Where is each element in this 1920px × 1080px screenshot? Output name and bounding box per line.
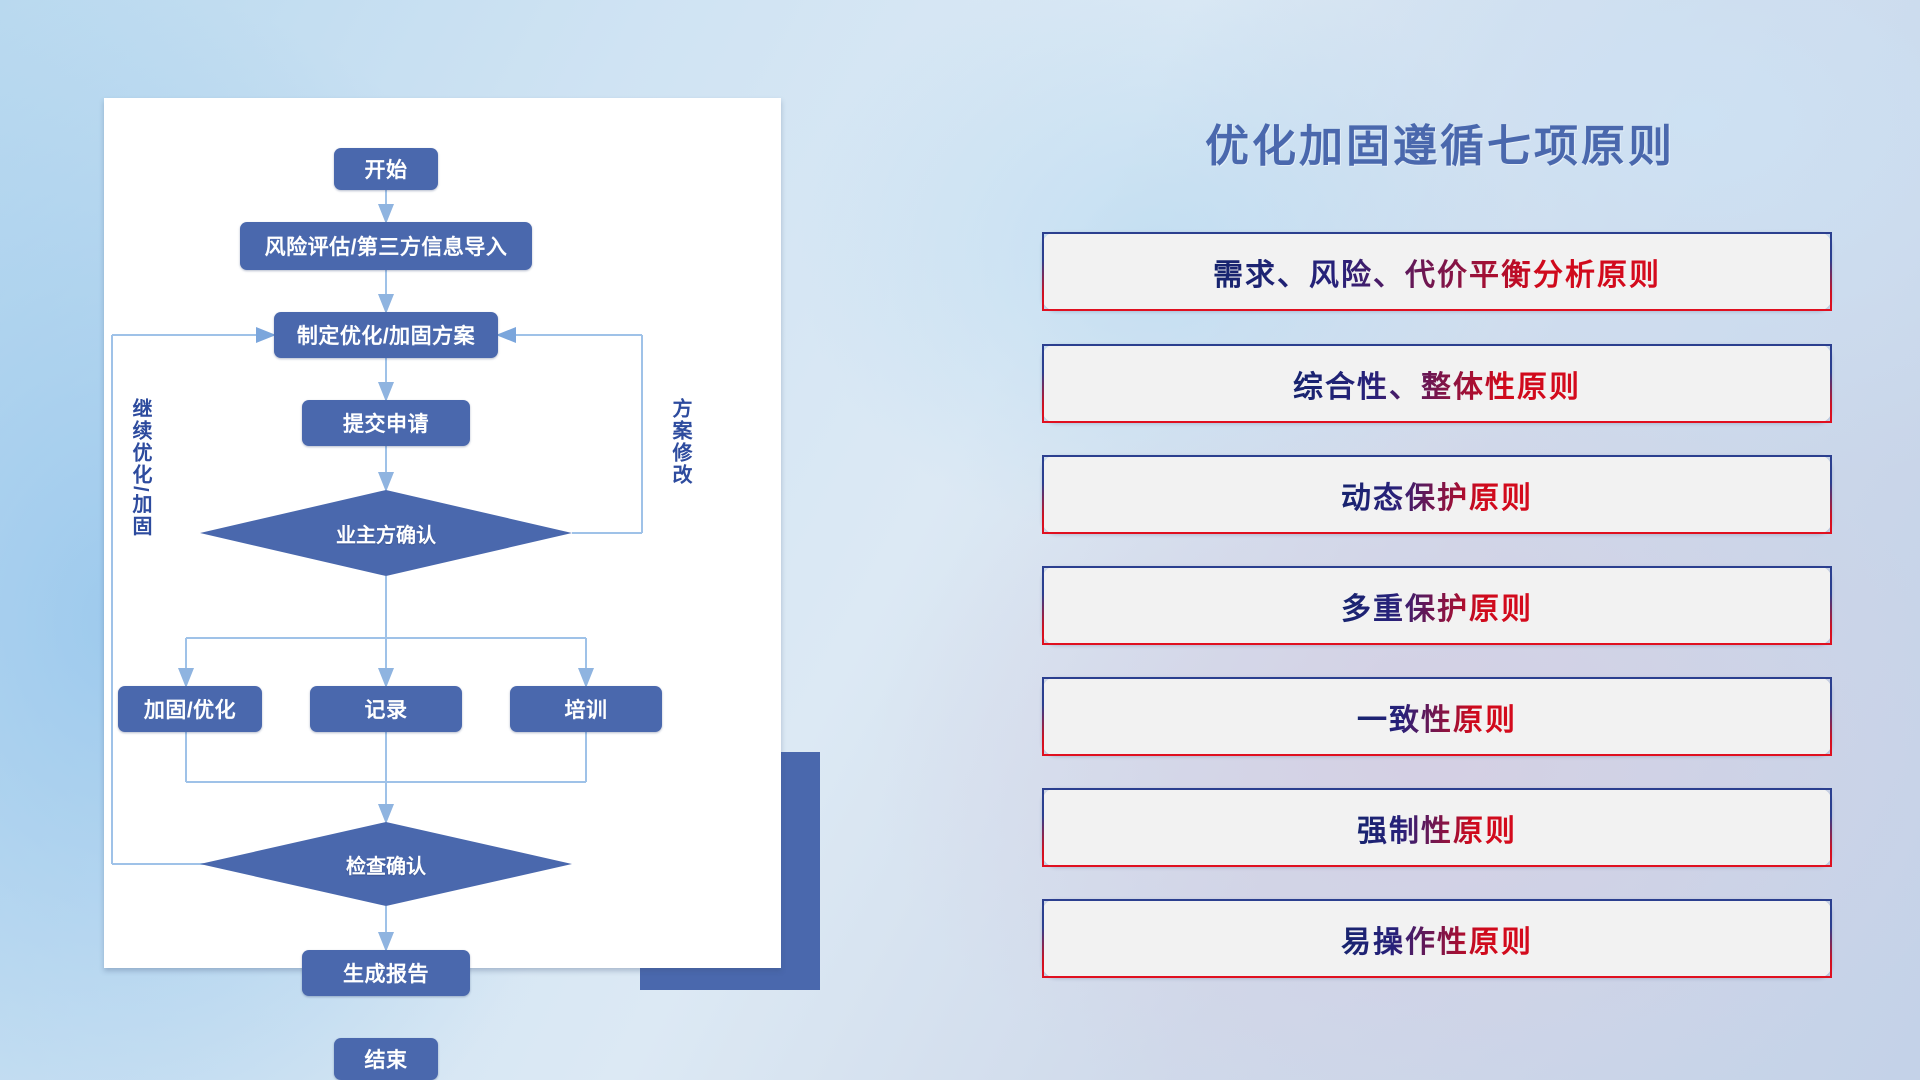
flow-node-reinforce[interactable]: 加固/优化	[118, 686, 262, 732]
flow-node-record-label: 记录	[365, 694, 408, 724]
flow-node-submit[interactable]: 提交申请	[302, 400, 470, 446]
edge-label-plan-revision: 方案修改	[666, 398, 695, 486]
flowchart-card: 开始 风险评估/第三方信息导入 制定优化/加固方案 提交申请 业主方确认 加固/…	[104, 98, 781, 968]
page-title: 优化加固遵循七项原则	[1020, 110, 1860, 174]
principle-item[interactable]: 易操作性原则	[1042, 899, 1832, 978]
principle-item-label: 综合性、整体性原则	[1293, 362, 1581, 406]
flow-node-risk-assessment[interactable]: 风险评估/第三方信息导入	[240, 222, 532, 270]
principle-item[interactable]: 强制性原则	[1042, 788, 1832, 867]
flow-node-start[interactable]: 开始	[334, 148, 438, 190]
flow-node-risk-assessment-label: 风险评估/第三方信息导入	[265, 231, 508, 261]
principle-item-label: 易操作性原则	[1341, 917, 1533, 961]
principle-item[interactable]: 一致性原则	[1042, 677, 1832, 756]
principle-item[interactable]: 需求、风险、代价平衡分析原则	[1042, 232, 1832, 311]
principle-item[interactable]: 多重保护原则	[1042, 566, 1832, 645]
flow-node-record[interactable]: 记录	[310, 686, 462, 732]
flow-node-training[interactable]: 培训	[510, 686, 662, 732]
principles-panel: 优化加固遵循七项原则 需求、风险、代价平衡分析原则 综合性、整体性原则 动态保护…	[1020, 0, 1920, 1080]
flow-node-end[interactable]: 结束	[334, 1038, 438, 1080]
flow-node-report-label: 生成报告	[343, 958, 429, 988]
flow-node-owner-confirm-label: 业主方确认	[336, 519, 436, 548]
flow-node-plan[interactable]: 制定优化/加固方案	[274, 312, 498, 358]
flow-node-check-confirm[interactable]: 检查确认	[200, 822, 572, 906]
flow-node-reinforce-label: 加固/优化	[144, 694, 236, 724]
principle-item-label: 动态保护原则	[1341, 473, 1533, 517]
principle-item-label: 强制性原则	[1357, 806, 1517, 850]
flow-node-owner-confirm[interactable]: 业主方确认	[200, 490, 572, 576]
flow-node-report[interactable]: 生成报告	[302, 950, 470, 996]
flow-node-start-label: 开始	[365, 154, 408, 184]
flowchart: 开始 风险评估/第三方信息导入 制定优化/加固方案 提交申请 业主方确认 加固/…	[104, 98, 781, 968]
principle-item[interactable]: 综合性、整体性原则	[1042, 344, 1832, 423]
flow-node-plan-label: 制定优化/加固方案	[297, 320, 475, 350]
flow-node-training-label: 培训	[565, 694, 608, 724]
principle-item[interactable]: 动态保护原则	[1042, 455, 1832, 534]
slide-canvas: 开始 风险评估/第三方信息导入 制定优化/加固方案 提交申请 业主方确认 加固/…	[0, 0, 1920, 1080]
flow-node-check-confirm-label: 检查确认	[346, 850, 426, 879]
flow-node-end-label: 结束	[365, 1044, 408, 1074]
principle-item-label: 多重保护原则	[1341, 584, 1533, 628]
principle-item-label: 需求、风险、代价平衡分析原则	[1213, 250, 1661, 294]
principle-item-label: 一致性原则	[1357, 695, 1517, 739]
flow-node-submit-label: 提交申请	[343, 408, 429, 438]
edge-label-continue-optimize: 继续优化/加固	[126, 398, 155, 538]
